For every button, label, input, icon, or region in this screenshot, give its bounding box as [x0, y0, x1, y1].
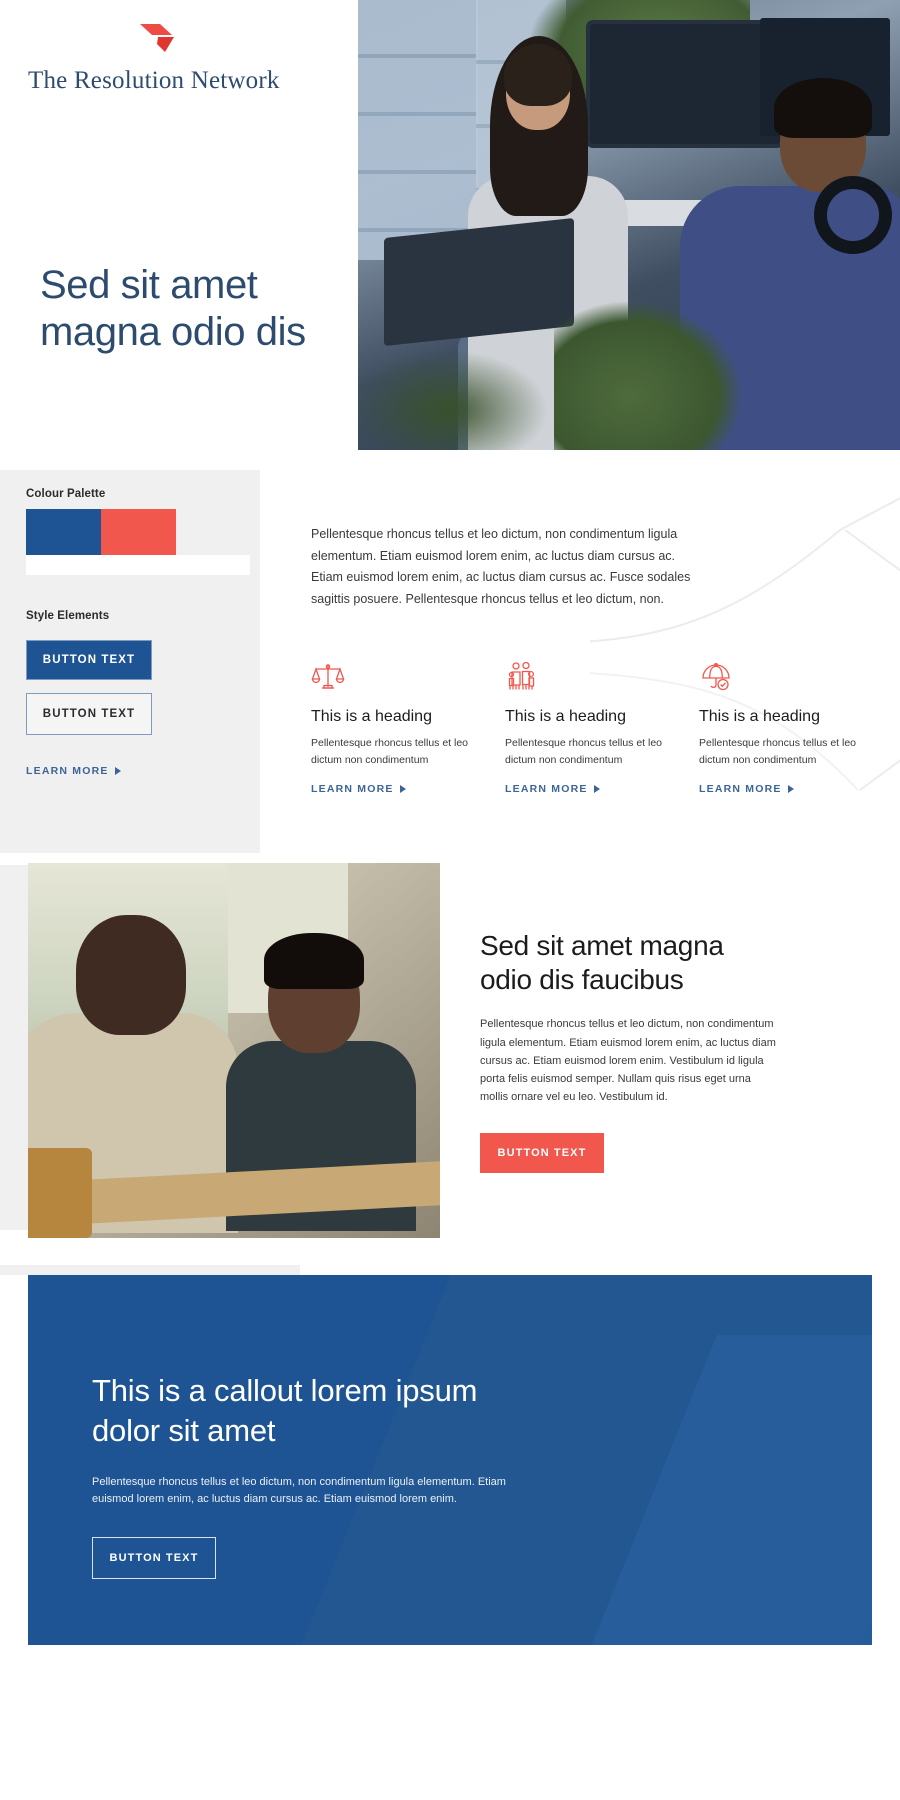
feature-learn-more-link[interactable]: LEARN MORE	[311, 783, 406, 795]
hero-headphones	[814, 176, 892, 254]
split-card: Sed sit amet magna odio dis faucibus Pel…	[28, 863, 872, 1238]
chevron-right-icon	[400, 785, 406, 793]
learn-more-link[interactable]: LEARN MORE	[26, 765, 121, 777]
swatch-white-bar	[26, 555, 250, 575]
hero-plant-bottom	[358, 350, 548, 450]
hero-image	[358, 0, 900, 450]
swatch-neutral-white	[176, 509, 250, 555]
hero-person-right-hair	[774, 78, 872, 138]
split-chair	[28, 1148, 92, 1238]
callout-heading-line2: dolor sit amet	[92, 1413, 275, 1448]
colour-swatch-row	[26, 509, 250, 555]
callout-paragraph: Pellentesque rhoncus tellus et leo dictu…	[92, 1474, 522, 1510]
hero-title-line1: Sed sit amet	[40, 263, 258, 307]
feature-heading: This is a heading	[311, 708, 481, 726]
hero-section: The Resolution Network Sed sit amet magn…	[0, 0, 900, 470]
split-heading-line1: Sed sit amet magna	[480, 930, 724, 961]
hero-plant-mid	[554, 300, 744, 450]
swatch-accent-red	[101, 509, 176, 555]
primary-button[interactable]: BUTTON TEXT	[26, 640, 152, 680]
callout-section: This is a callout lorem ipsum dolor sit …	[0, 1265, 900, 1800]
brand-name: The Resolution Network	[28, 67, 328, 95]
mid-content: Pellentesque rhoncus tellus et leo dictu…	[260, 470, 900, 853]
umbrella-check-icon	[699, 660, 869, 702]
split-person-left-head	[76, 915, 186, 1035]
hero-person-left-fringe	[504, 44, 572, 106]
feature-text: Pellentesque rhoncus tellus et leo dictu…	[699, 735, 867, 769]
hero-monitor	[590, 24, 780, 144]
split-image	[28, 863, 440, 1238]
intro-paragraph: Pellentesque rhoncus tellus et leo dictu…	[311, 524, 691, 610]
split-text-block: Sed sit amet magna odio dis faucibus Pel…	[440, 863, 872, 1238]
hero-title: Sed sit amet magna odio dis	[40, 262, 306, 356]
callout-heading-line1: This is a callout lorem ipsum	[92, 1373, 477, 1408]
scales-of-justice-icon	[311, 660, 481, 702]
colour-palette-label: Colour Palette	[26, 488, 260, 500]
feature-card: This is a heading Pellentesque rhoncus t…	[311, 660, 481, 797]
chevron-right-icon	[594, 785, 600, 793]
split-paragraph: Pellentesque rhoncus tellus et leo dictu…	[480, 1015, 780, 1106]
brand-logo[interactable]: The Resolution Network	[28, 20, 328, 95]
outline-button[interactable]: BUTTON TEXT	[26, 693, 152, 735]
swatch-primary-blue	[26, 509, 101, 555]
split-media-section: Sed sit amet magna odio dis faucibus Pel…	[0, 865, 900, 1265]
feature-card: This is a heading Pellentesque rhoncus t…	[505, 660, 675, 797]
callout-heading: This is a callout lorem ipsum dolor sit …	[92, 1371, 872, 1452]
feature-card: This is a heading Pellentesque rhoncus t…	[699, 660, 869, 797]
style-guide-page: The Resolution Network Sed sit amet magn…	[0, 0, 900, 1800]
hero-window-blinds	[358, 0, 478, 260]
chevron-right-icon	[788, 785, 794, 793]
split-heading-line2: odio dis faucibus	[480, 964, 683, 995]
feature-learn-more-link[interactable]: LEARN MORE	[505, 783, 600, 795]
chevron-right-icon	[115, 767, 121, 775]
feature-list: This is a heading Pellentesque rhoncus t…	[311, 660, 869, 797]
style-panel: Colour Palette Style Elements BUTTON TEX…	[0, 470, 260, 853]
learn-more-label: LEARN MORE	[26, 765, 109, 777]
split-cta-button[interactable]: BUTTON TEXT	[480, 1133, 604, 1173]
feature-heading: This is a heading	[699, 708, 869, 726]
family-group-icon	[505, 660, 675, 702]
style-elements-label: Style Elements	[26, 610, 260, 622]
feature-learn-more-label: LEARN MORE	[311, 783, 394, 795]
style-and-features-section: Colour Palette Style Elements BUTTON TEX…	[0, 470, 900, 865]
feature-text: Pellentesque rhoncus tellus et leo dictu…	[311, 735, 479, 769]
callout-banner: This is a callout lorem ipsum dolor sit …	[28, 1275, 872, 1645]
hero-laptop	[384, 218, 574, 346]
logo-chevron-arrow-icon	[138, 20, 188, 56]
split-person-right-hair	[264, 933, 364, 989]
feature-learn-more-label: LEARN MORE	[699, 783, 782, 795]
feature-learn-more-link[interactable]: LEARN MORE	[699, 783, 794, 795]
feature-learn-more-label: LEARN MORE	[505, 783, 588, 795]
callout-left-grey-band	[0, 1265, 300, 1275]
split-heading: Sed sit amet magna odio dis faucibus	[480, 929, 832, 997]
callout-content: This is a callout lorem ipsum dolor sit …	[28, 1275, 872, 1579]
feature-text: Pellentesque rhoncus tellus et leo dictu…	[505, 735, 673, 769]
feature-heading: This is a heading	[505, 708, 675, 726]
hero-title-line2: magna odio dis	[40, 310, 306, 354]
callout-cta-button[interactable]: BUTTON TEXT	[92, 1537, 216, 1579]
